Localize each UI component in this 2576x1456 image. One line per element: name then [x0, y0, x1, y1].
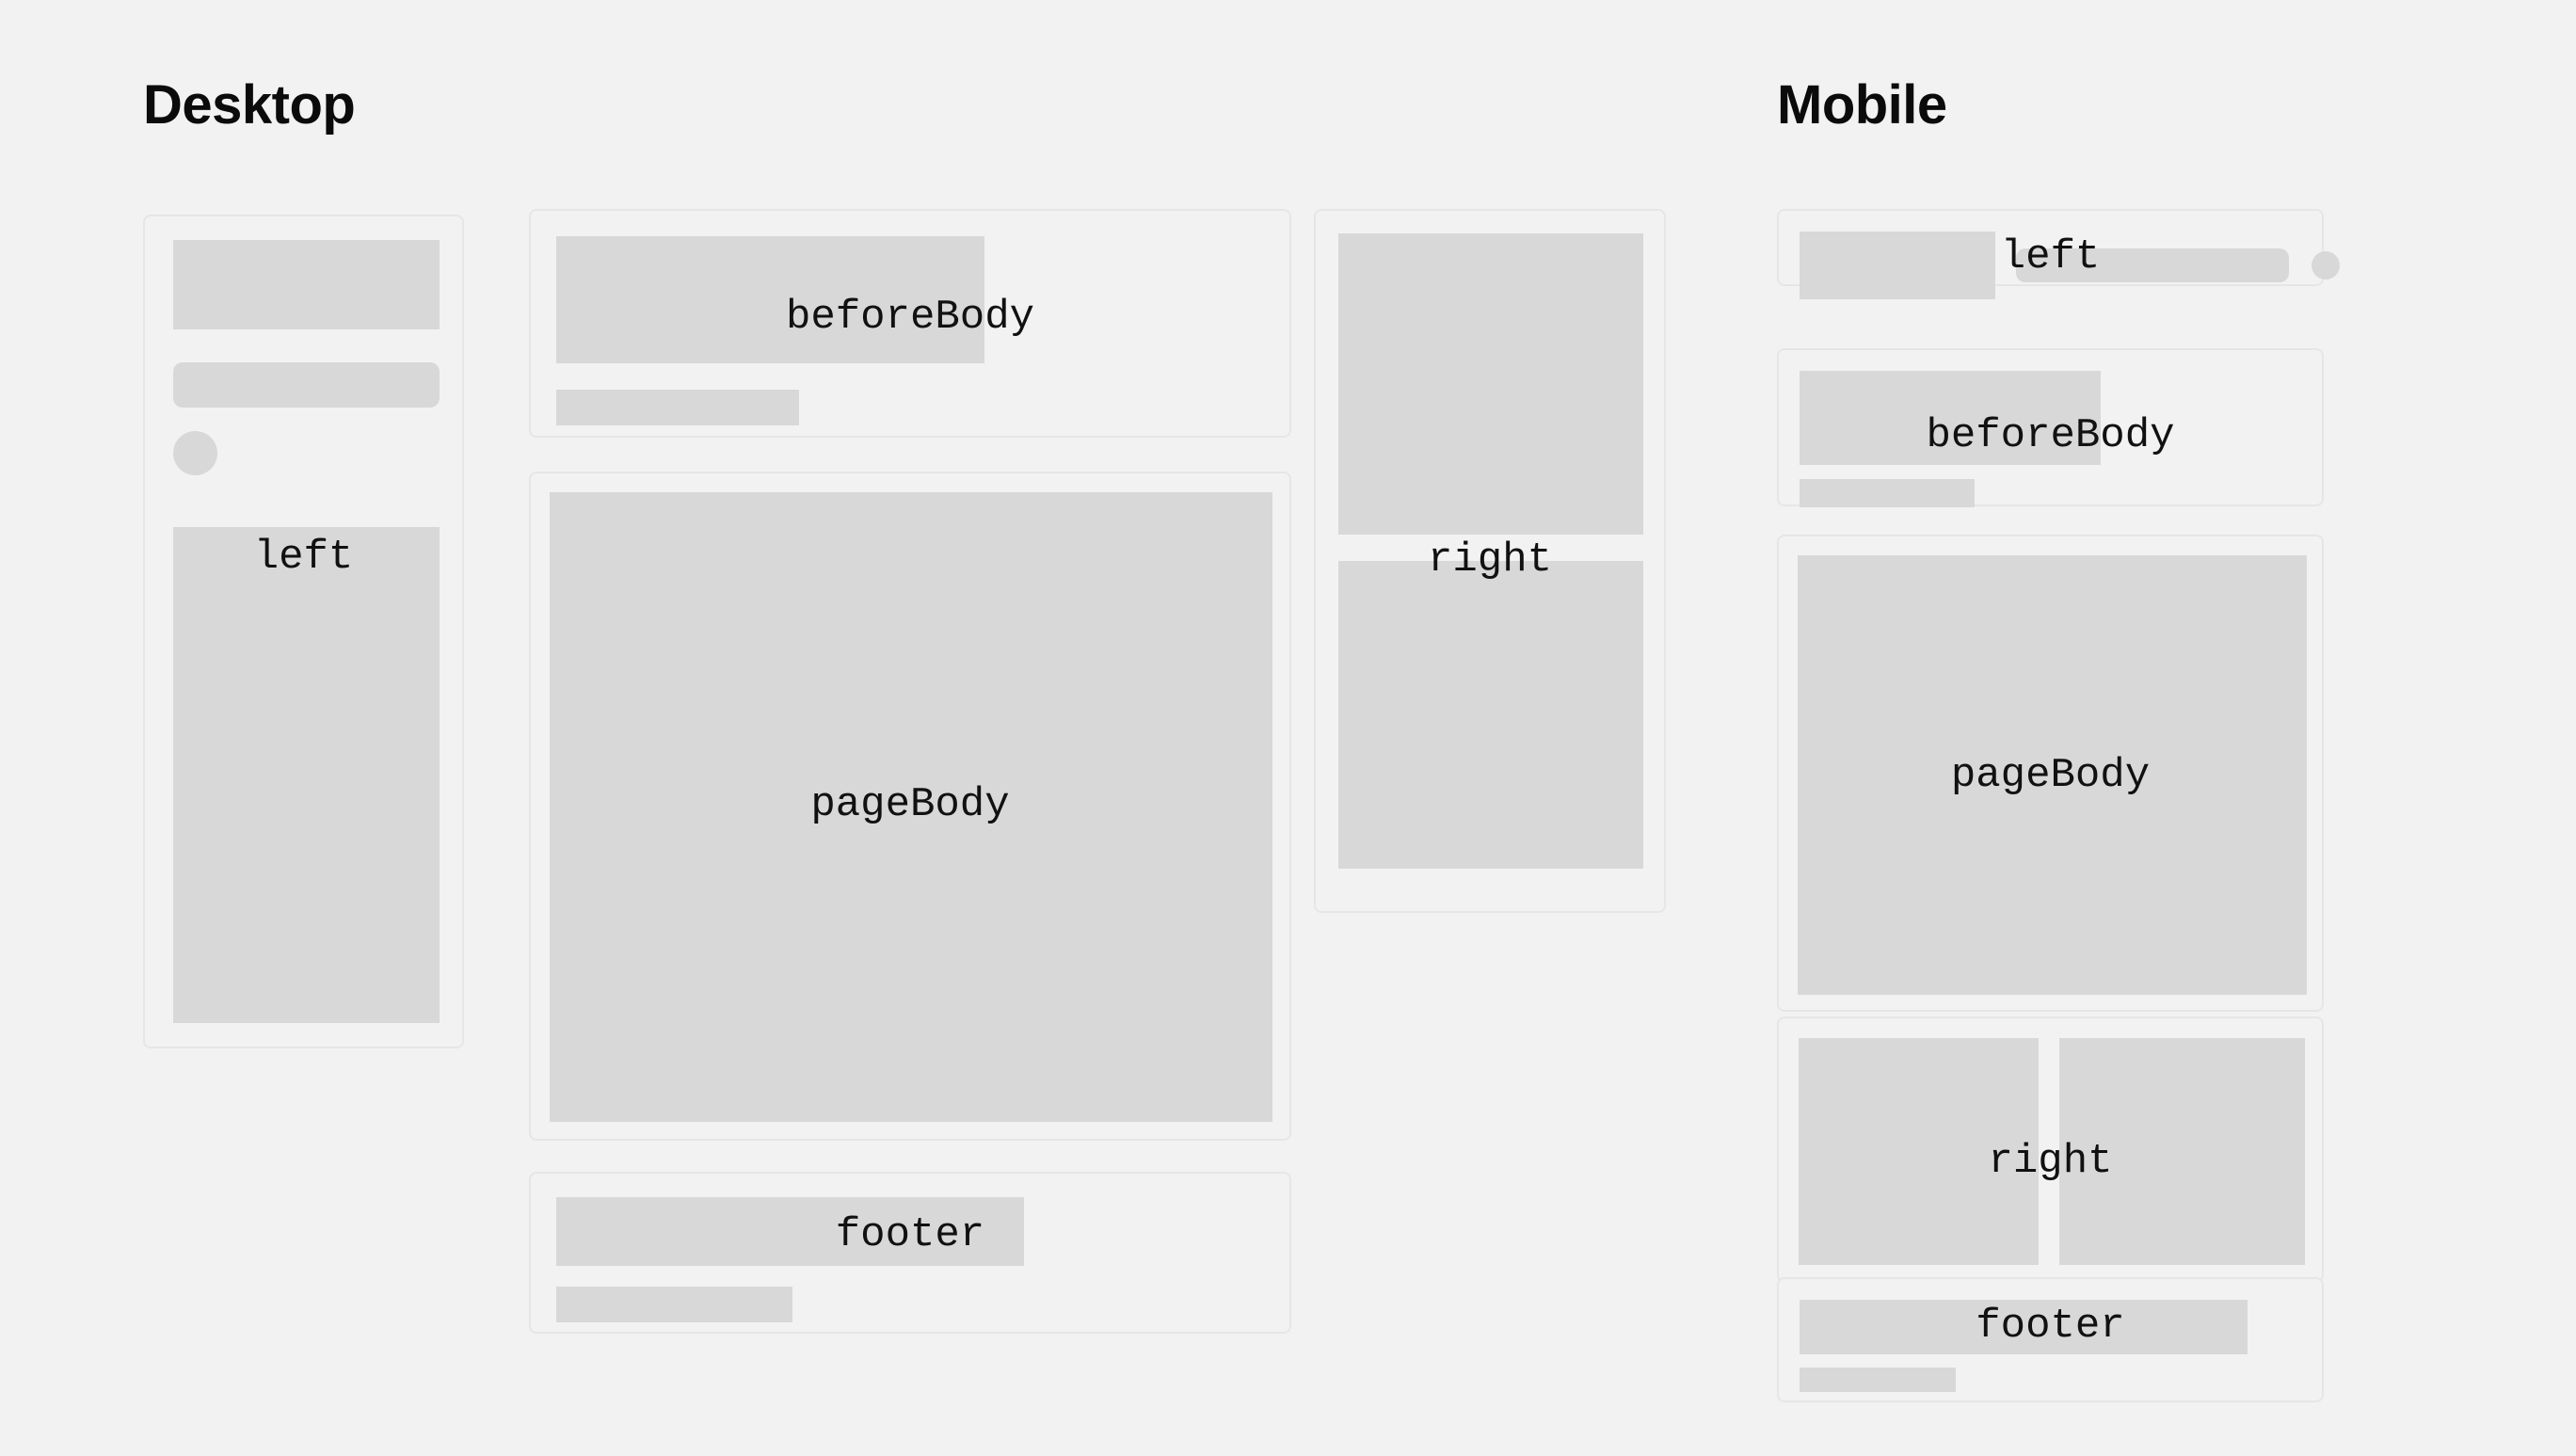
skeleton-block [1800, 479, 1975, 507]
skeleton-block [1338, 561, 1643, 869]
mobile-region-footer[interactable] [1777, 1277, 2324, 1402]
skeleton-block [1798, 555, 2307, 995]
skeleton-block [556, 390, 799, 425]
skeleton-block [1800, 1368, 1956, 1392]
skeleton-block [173, 240, 440, 329]
desktop-region-beforebody[interactable] [529, 209, 1291, 438]
mobile-region-right[interactable] [1777, 1016, 2324, 1283]
skeleton-block [550, 492, 1272, 1122]
skeleton-block [173, 527, 440, 1023]
skeleton-block [2016, 248, 2289, 282]
wireframe-canvas: Desktop Mobile left beforeBody pageBody … [0, 0, 2576, 1456]
desktop-region-left[interactable] [143, 215, 464, 1048]
desktop-region-footer[interactable] [529, 1172, 1291, 1334]
skeleton-block [1800, 371, 2101, 465]
skeleton-avatar-circle [2312, 251, 2340, 280]
mobile-region-pagebody[interactable] [1777, 535, 2324, 1012]
skeleton-block [1800, 1300, 2248, 1354]
skeleton-block [173, 362, 440, 408]
page-title-mobile: Mobile [1777, 78, 1947, 133]
skeleton-block [556, 1197, 1024, 1266]
desktop-region-right[interactable] [1314, 209, 1666, 913]
skeleton-block [1799, 1038, 2039, 1265]
skeleton-block [556, 236, 984, 363]
skeleton-block [1338, 233, 1643, 535]
page-title-desktop: Desktop [143, 78, 355, 133]
mobile-region-left[interactable] [1777, 209, 2324, 286]
skeleton-block [1800, 232, 1995, 299]
mobile-region-beforebody[interactable] [1777, 348, 2324, 506]
skeleton-avatar-circle [173, 431, 217, 475]
desktop-region-pagebody[interactable] [529, 472, 1291, 1141]
skeleton-block [2059, 1038, 2305, 1265]
skeleton-block [556, 1287, 792, 1322]
